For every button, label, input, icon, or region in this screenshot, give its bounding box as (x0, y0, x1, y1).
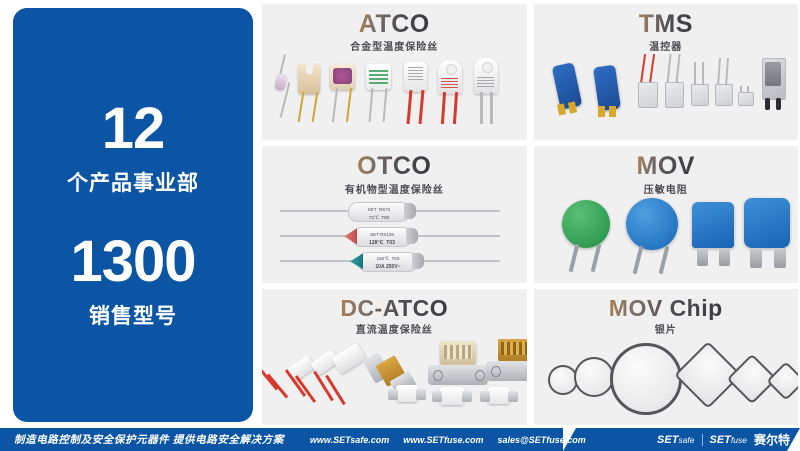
footer-link-setsafe[interactable]: www.SETsafe.com (310, 435, 389, 445)
product-subtitle-dc-atco: 直流温度保险丝 (356, 321, 433, 336)
otco-label-1a: SET (368, 207, 377, 212)
otco-label-1b: RS72 (379, 207, 390, 212)
footer-link-setfuse[interactable]: www.SETfuse.com (403, 435, 483, 445)
stat-label-divisions: 个产品事业部 (67, 167, 199, 197)
product-image-tms (534, 52, 799, 140)
brand-setsafe-main: SET (657, 434, 678, 446)
otco-label-2b: RS128 (380, 232, 394, 237)
otco-label-3c: 10A (375, 264, 384, 270)
stat-block-models: 1300 销售型号 (70, 233, 195, 330)
product-image-otco: SET RS72 72℃ T60 SET RS128 128℃ T03 (262, 194, 527, 282)
otco-label-3b: T03 (392, 256, 400, 261)
brand-setfuse: SETfuse (710, 434, 747, 446)
product-title-otco: OTCO (357, 153, 431, 179)
product-image-mov (534, 194, 799, 282)
product-card-dc-atco[interactable]: DC-ATCO 直流温度保险丝 (262, 289, 527, 425)
stat-number-models: 1300 (70, 233, 195, 291)
product-title-mov-chip: MOV Chip (609, 296, 723, 320)
stat-number-divisions: 12 (102, 100, 165, 158)
product-image-dc-atco (262, 337, 527, 425)
footer-brand: SETsafe SETfuse 赛尔特 (657, 428, 790, 451)
otco-label-1c: 72℃ (369, 215, 379, 220)
otco-label-2c: 128℃ (369, 240, 383, 246)
footer-tagline: 制造电路控制及安全保护元器件 提供电路安全解决方案 (14, 432, 284, 447)
product-subtitle-mov-chip: 银片 (655, 321, 677, 336)
product-subtitle-tms: 温控器 (649, 38, 682, 53)
product-card-mov-chip[interactable]: MOV Chip 银片 (534, 289, 799, 425)
stat-label-models: 销售型号 (89, 300, 177, 330)
brand-divider (702, 434, 703, 446)
product-card-otco[interactable]: OTCO 有机物型温度保险丝 SET RS72 72℃ T60 SET RS (262, 146, 527, 282)
otco-label-3d: 250V~ (386, 264, 401, 270)
product-card-mov[interactable]: MOV 压敏电阻 (534, 146, 799, 282)
product-card-tms[interactable]: TMS 温控器 (534, 4, 799, 140)
product-subtitle-mov: 压敏电阻 (644, 181, 688, 196)
stats-panel: 12 个产品事业部 1300 销售型号 (13, 8, 253, 422)
otco-label-2d: T03 (386, 240, 395, 246)
product-subtitle-atco: 合金型温度保险丝 (350, 38, 438, 53)
brand-setsafe: SETsafe (657, 434, 694, 446)
product-title-dc-atco: DC-ATCO (340, 296, 448, 320)
stat-block-divisions: 12 个产品事业部 (67, 100, 199, 197)
product-card-atco[interactable]: ATCO 合金型温度保险丝 (262, 4, 527, 140)
product-title-mov: MOV (637, 153, 695, 179)
brand-setfuse-main: SET (710, 434, 731, 446)
footer-links: www.SETsafe.com www.SETfuse.com sales@SE… (310, 435, 586, 445)
product-subtitle-otco: 有机物型温度保险丝 (345, 181, 444, 196)
brand-setfuse-sub: fuse (731, 435, 747, 445)
slide-root: 12 个产品事业部 1300 销售型号 ATCO 合金型温度保险丝 (0, 0, 800, 451)
brand-chinese-name: 赛尔特 (754, 431, 790, 448)
footer-chevron-left-icon (563, 428, 576, 451)
product-image-atco (262, 52, 527, 140)
footer-bar: 制造电路控制及安全保护元器件 提供电路安全解决方案 www.SETsafe.co… (0, 428, 800, 451)
otco-label-1d: T60 (381, 215, 389, 220)
product-grid: ATCO 合金型温度保险丝 (262, 4, 798, 425)
otco-label-3a: 192℃ (377, 256, 390, 261)
product-title-atco: ATCO (359, 11, 430, 37)
product-title-tms: TMS (639, 11, 693, 37)
product-image-mov-chip (534, 337, 799, 425)
otco-label-2a: SET (370, 232, 379, 237)
brand-setsafe-sub: safe (678, 435, 694, 445)
